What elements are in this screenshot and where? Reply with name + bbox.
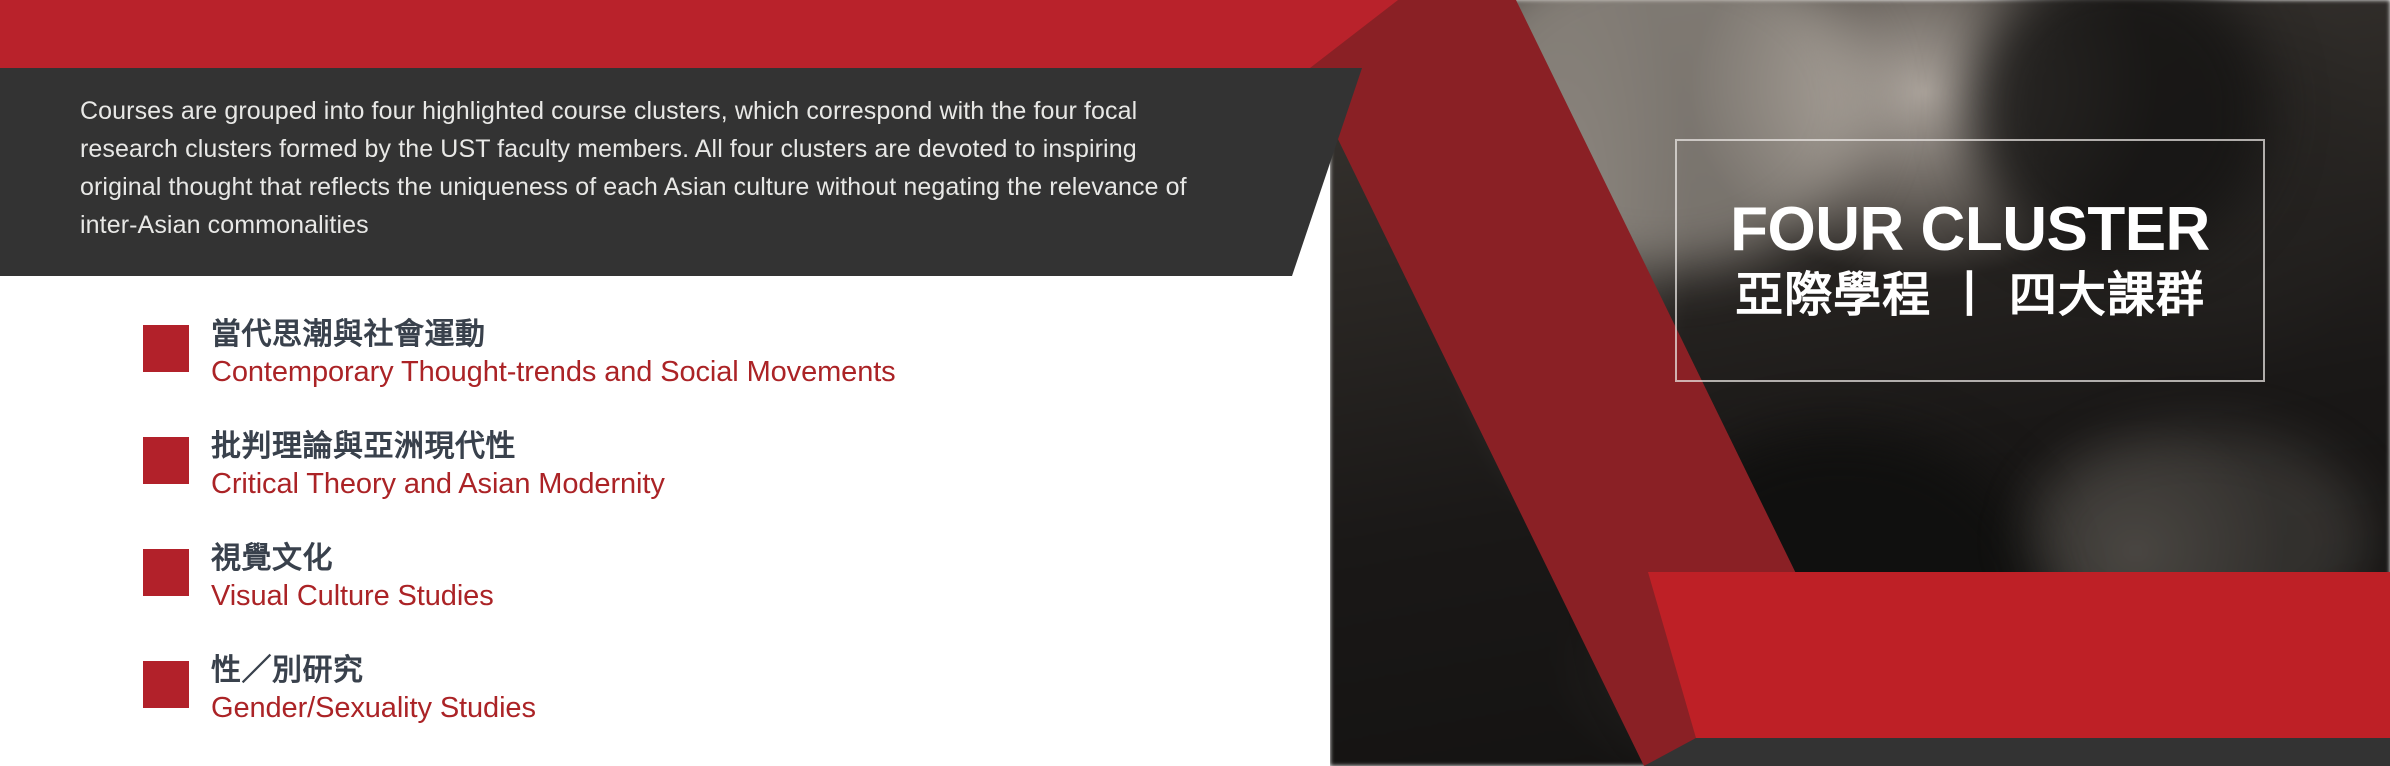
cluster-item[interactable]: 視覺文化 Visual Culture Studies (143, 541, 1143, 653)
cluster-item[interactable]: 性／別研究 Gender/Sexuality Studies (143, 653, 1143, 765)
cluster-bullet-square-icon (143, 549, 189, 596)
hero-title-inner: FOUR CLUSTER 亞際學程 丨 四大課群 (1677, 197, 2263, 325)
top-red-bar (0, 0, 1330, 68)
cluster-title-zh: 當代思潮與社會運動 (211, 317, 1143, 353)
banner-canvas: Courses are grouped into four highlighte… (0, 0, 2390, 766)
intro-paragraph-block: Courses are grouped into four highlighte… (80, 92, 1220, 244)
cluster-title-zh: 視覺文化 (211, 541, 1143, 577)
hero-title-chinese: 亞際學程 丨 四大課群 (1677, 267, 2263, 325)
cluster-title-en: Visual Culture Studies (211, 579, 1143, 613)
cluster-bullet-square-icon (143, 437, 189, 484)
bottom-red-band (1648, 572, 2390, 738)
cluster-bullet-square-icon (143, 325, 189, 372)
intro-paragraph-text: Courses are grouped into four highlighte… (80, 92, 1220, 244)
cluster-title-zh: 批判理論與亞洲現代性 (211, 429, 1143, 465)
hero-title-frame: FOUR CLUSTER 亞際學程 丨 四大課群 (1675, 139, 2265, 382)
cluster-item[interactable]: 當代思潮與社會運動 Contemporary Thought-trends an… (143, 317, 1143, 429)
hero-title-english: FOUR CLUSTER (1677, 197, 2263, 263)
cluster-title-en: Gender/Sexuality Studies (211, 691, 1143, 725)
cluster-item[interactable]: 批判理論與亞洲現代性 Critical Theory and Asian Mod… (143, 429, 1143, 541)
cluster-title-zh: 性／別研究 (211, 653, 1143, 689)
cluster-list: 當代思潮與社會運動 Contemporary Thought-trends an… (143, 317, 1143, 765)
cluster-title-en: Contemporary Thought-trends and Social M… (211, 355, 1143, 389)
cluster-title-en: Critical Theory and Asian Modernity (211, 467, 1143, 501)
bottom-charcoal-wedge (1644, 738, 2390, 766)
cluster-bullet-square-icon (143, 661, 189, 708)
